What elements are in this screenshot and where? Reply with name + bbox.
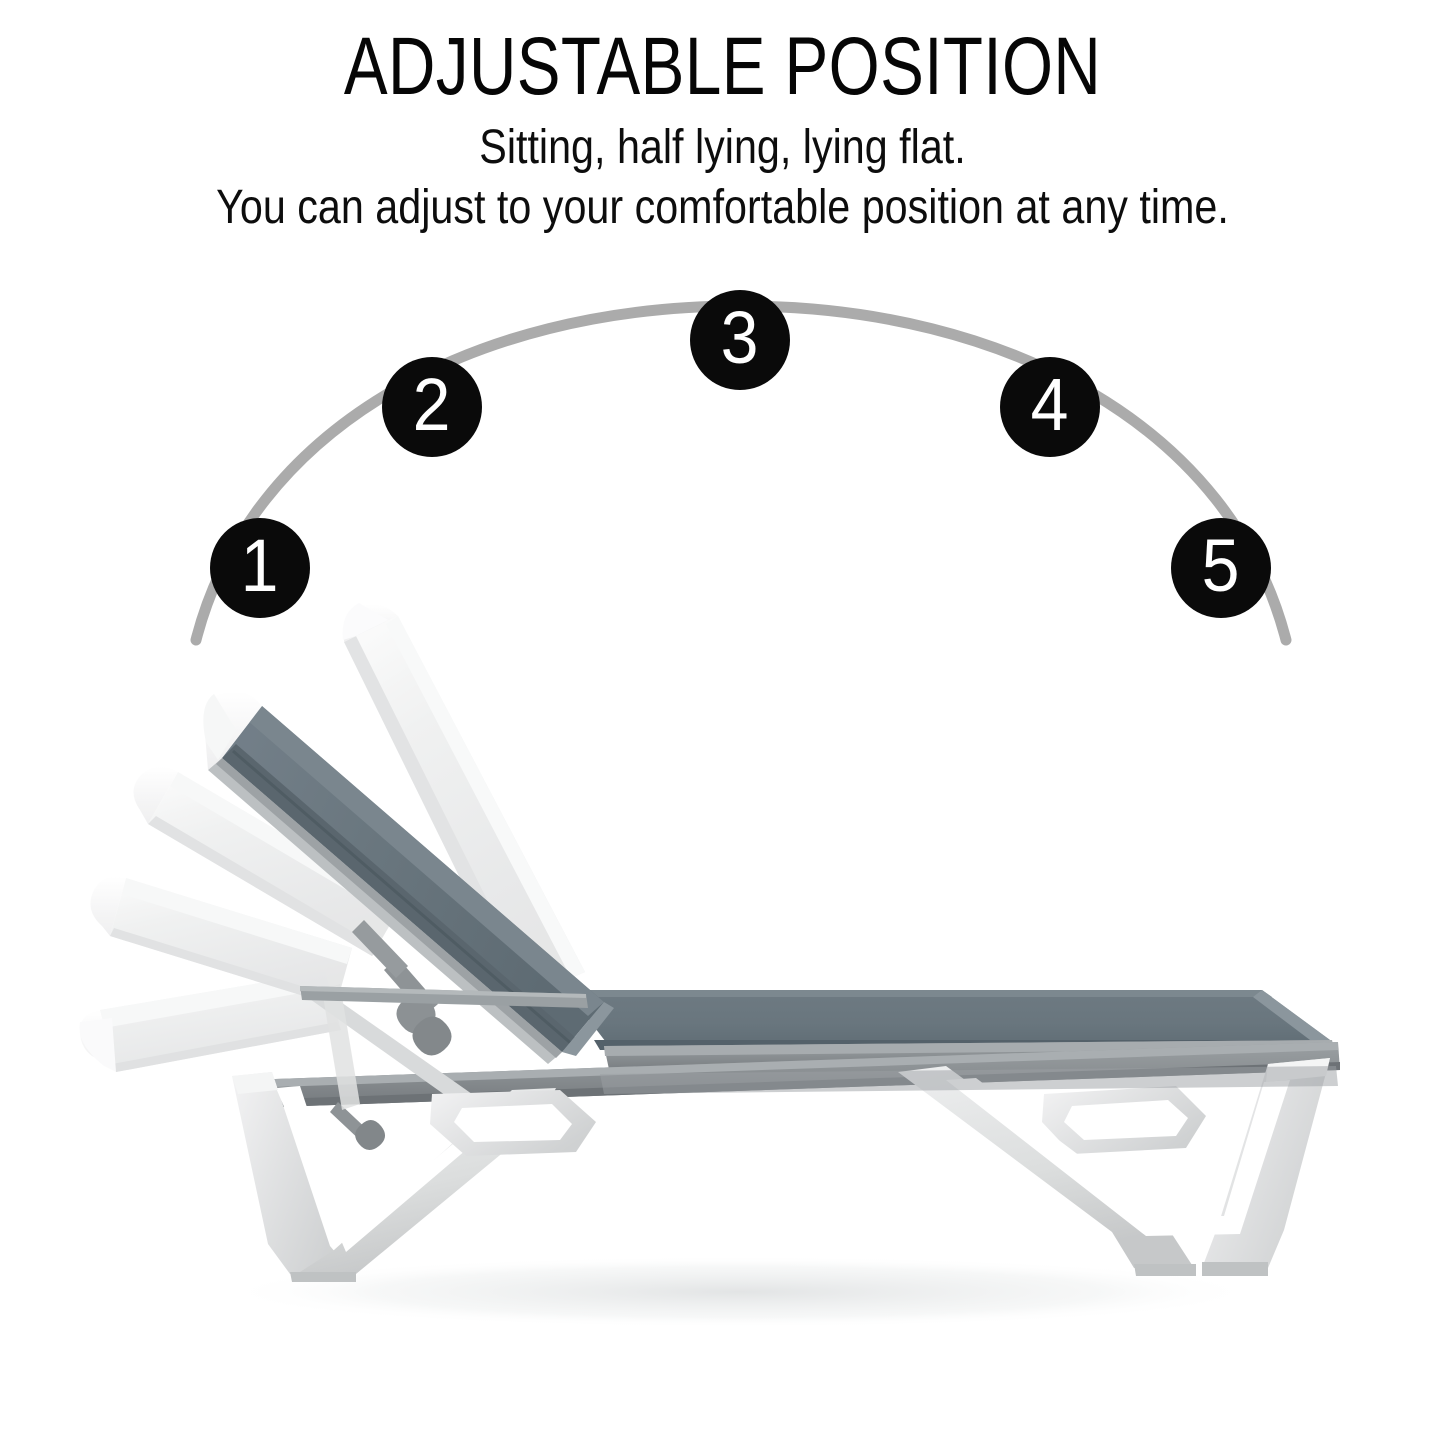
position-marker-label: 5 — [1202, 529, 1240, 603]
position-marker-2[interactable]: 2 — [382, 357, 482, 457]
position-marker-label: 3 — [721, 301, 759, 375]
floor-shadow — [220, 1256, 1260, 1328]
position-marker-5[interactable]: 5 — [1171, 518, 1271, 618]
position-marker-label: 4 — [1031, 368, 1069, 442]
infographic-canvas: ADJUSTABLE POSITION Sitting, half lying,… — [0, 0, 1445, 1445]
position-marker-label: 1 — [241, 529, 279, 603]
position-marker-4[interactable]: 4 — [1000, 357, 1100, 457]
position-marker-1[interactable]: 1 — [210, 518, 310, 618]
position-marker-label: 2 — [413, 368, 451, 442]
position-marker-3[interactable]: 3 — [690, 290, 790, 390]
seat-support-bracket-left — [430, 1090, 596, 1156]
product-illustration — [0, 0, 1445, 1445]
seat-support-bracket-right — [1042, 1086, 1206, 1154]
